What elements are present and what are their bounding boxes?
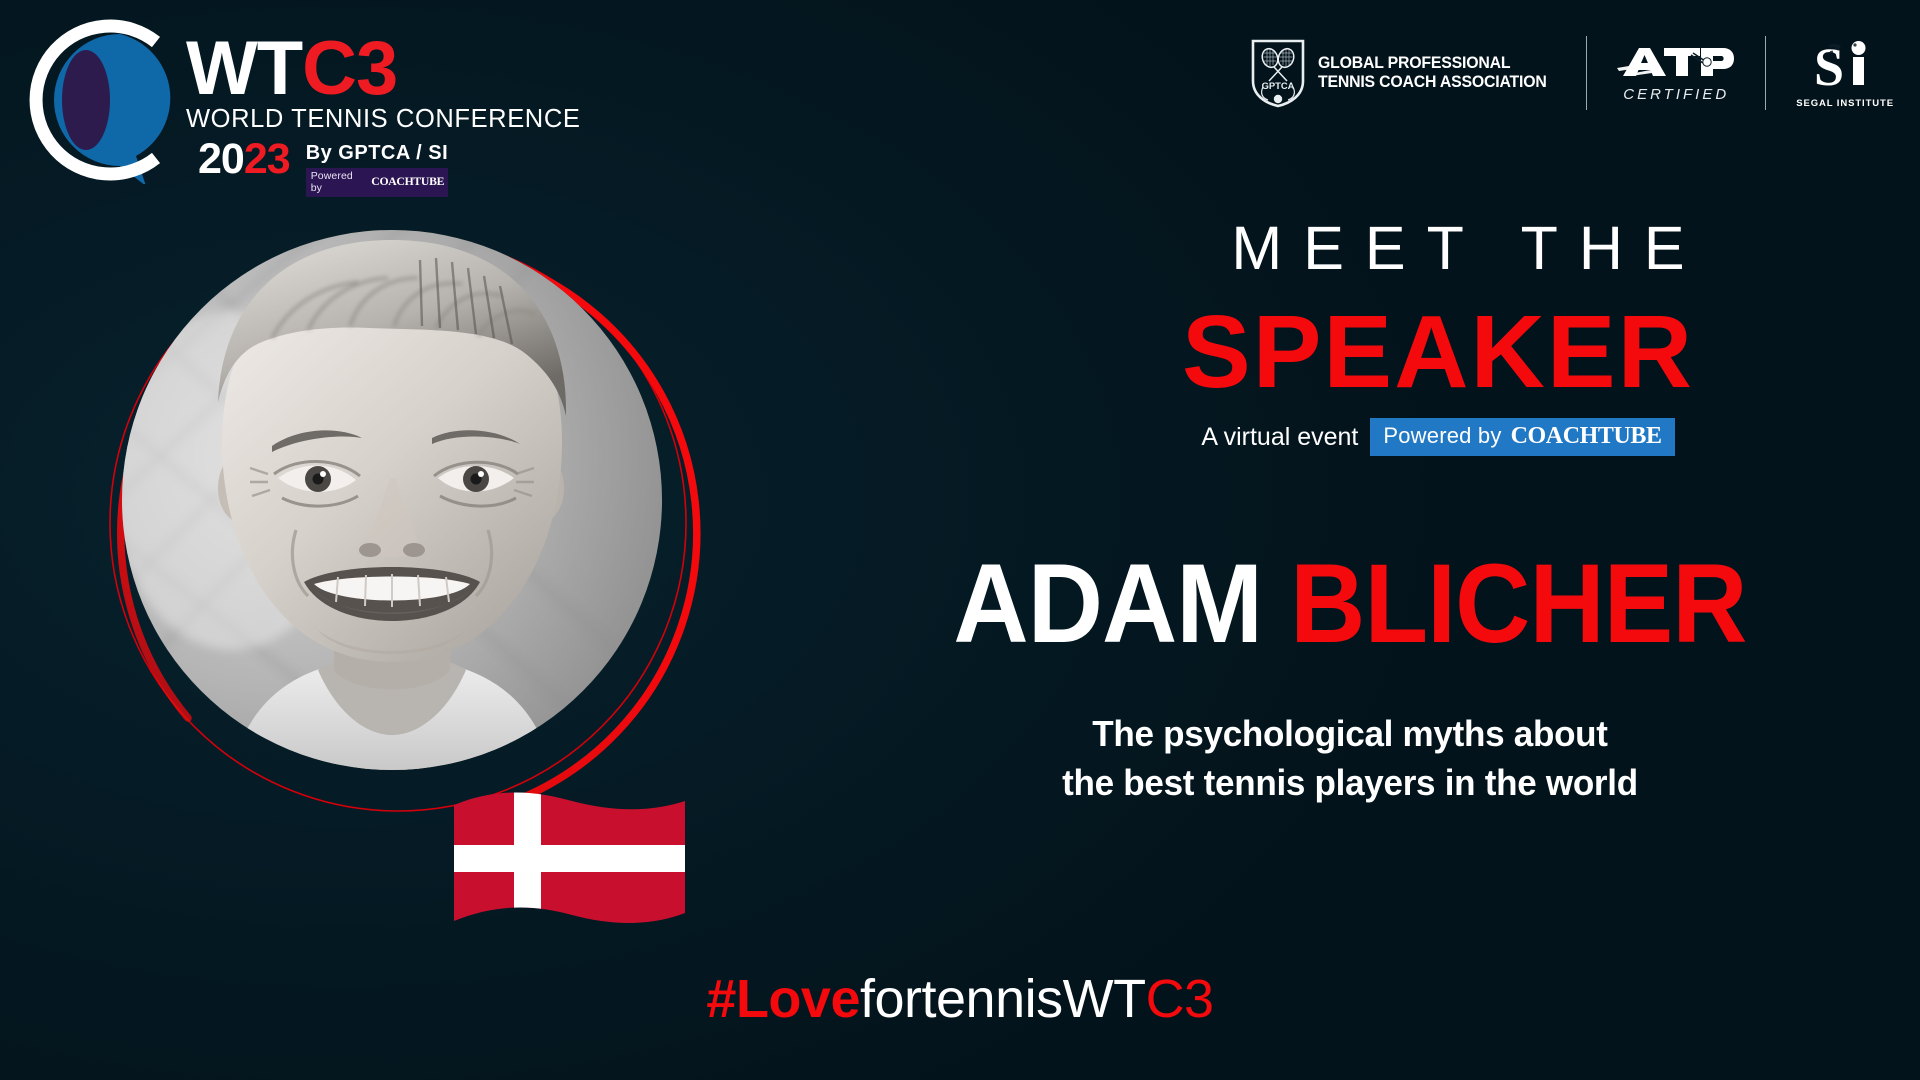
logo-by-gptca-si: By GPTCA / SI: [306, 142, 448, 165]
speaker-photo-block: [100, 205, 800, 935]
speaker-first-name: ADAM: [953, 541, 1262, 666]
virtual-event-label: A virtual event: [1201, 423, 1358, 452]
logo-bottom-row: 2023 By GPTCA / SI Powered by COACHTUBE: [198, 138, 448, 197]
wtc3-logo: WTC3 WORLD TENNIS CONFERENCE 2023 By GPT…: [28, 14, 448, 189]
hashtag-middle: fortennisWT: [860, 969, 1146, 1029]
wtc3-wordmark: WTC3 WORLD TENNIS CONFERENCE: [186, 36, 580, 134]
denmark-flag-icon: [452, 783, 687, 943]
atp-certified-label: CERTIFIED: [1623, 86, 1729, 103]
partner-divider-1: [1586, 36, 1587, 110]
coachtube-powered-label: Powered by: [1383, 423, 1501, 449]
partner-segal-institute: S SEGAL INSTITUTE: [1796, 30, 1894, 116]
talk-title-line2: the best tennis players in the world: [899, 759, 1801, 808]
segal-institute-label: SEGAL INSTITUTE: [1796, 98, 1894, 109]
logo-coachtube-label: COACHTUBE: [371, 176, 444, 188]
segal-institute-icon: S: [1813, 37, 1877, 95]
talk-title: The psychological myths about the best t…: [899, 710, 1801, 807]
logo-year: 2023: [198, 138, 290, 181]
coachtube-brand-label: COACHTUBE: [1511, 423, 1662, 450]
logo-c3-text: C3: [302, 26, 397, 111]
svg-text:GPTCA: GPTCA: [1262, 80, 1295, 91]
logo-year-second: 23: [244, 135, 290, 183]
event-hashtag: #LovefortennisWTC3: [0, 972, 1920, 1026]
atp-logo-icon: [1617, 43, 1735, 85]
gptca-shield-icon: GPTCA: [1249, 37, 1307, 109]
speaker-portrait: [122, 230, 662, 770]
wtc3-logo-mark: [28, 16, 196, 184]
speaker-heading: SPEAKER: [1088, 300, 1788, 403]
gptca-label: GLOBAL PROFESSIONAL TENNIS COACH ASSOCIA…: [1318, 54, 1556, 92]
speaker-full-name: ADAM BLICHER: [913, 548, 1787, 660]
partner-atp: CERTIFIED: [1617, 30, 1735, 116]
gptca-line2: TENNIS COACH ASSOCIATION: [1318, 73, 1547, 92]
logo-powered-by-label: Powered by: [311, 170, 366, 194]
virtual-event-row: A virtual event Powered by COACHTUBE: [1088, 418, 1788, 456]
partner-divider-2: [1765, 36, 1766, 110]
logo-coachtube-badge: Powered by COACHTUBE: [306, 168, 448, 197]
speaker-last-name: BLICHER: [1290, 541, 1746, 666]
partner-logos: GPTCA GLOBAL PROFESSIONAL TENNIS COACH A…: [1249, 30, 1894, 116]
logo-by-block: By GPTCA / SI Powered by COACHTUBE: [306, 138, 448, 197]
meet-the-heading: MEET THE: [1108, 218, 1808, 279]
talk-title-line1: The psychological myths about: [899, 710, 1801, 759]
portrait-image: [122, 230, 662, 770]
partner-gptca: GPTCA GLOBAL PROFESSIONAL TENNIS COACH A…: [1249, 30, 1556, 116]
hashtag-c3: C3: [1146, 969, 1214, 1029]
hashtag-love: #Love: [706, 969, 860, 1029]
presentation-slide: WTC3 WORLD TENNIS CONFERENCE 2023 By GPT…: [0, 0, 1920, 1080]
logo-conference-line: WORLD TENNIS CONFERENCE: [186, 105, 580, 134]
gptca-line1: GLOBAL PROFESSIONAL: [1318, 54, 1547, 73]
logo-wt-text: WT: [186, 26, 302, 111]
coachtube-powered-badge[interactable]: Powered by COACHTUBE: [1370, 418, 1674, 456]
logo-year-first: 20: [198, 135, 244, 183]
